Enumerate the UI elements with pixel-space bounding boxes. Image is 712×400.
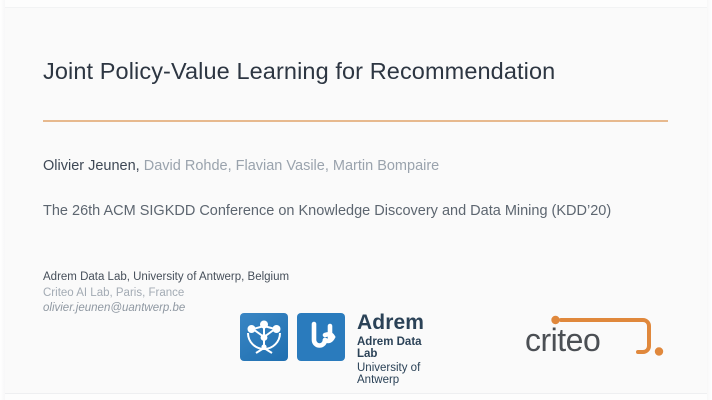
university-of-antwerp-icon [297, 313, 345, 361]
author-coauthors: David Rohde, Flavian Vasile, Martin Bomp… [140, 158, 440, 174]
conference-line: The 26th ACM SIGKDD Conference on Knowle… [43, 203, 611, 219]
criteo-logo: criteo [525, 313, 675, 365]
affiliation-secondary: Criteo AI Lab, Paris, France [43, 286, 289, 302]
slide-top-edge [0, 0, 712, 8]
slide-bottom-edge [0, 393, 712, 400]
page-title: Joint Policy-Value Learning for Recommen… [43, 58, 555, 85]
author-list: Olivier Jeunen, David Rohde, Flavian Vas… [43, 158, 439, 174]
adrem-lab-text: Adrem Data Lab [357, 337, 424, 360]
affiliation-primary: Adrem Data Lab, University of Antwerp, B… [43, 270, 289, 286]
title-divider [43, 120, 668, 122]
criteo-wordmark-text: criteo [525, 322, 600, 359]
slide-right-edge [707, 0, 712, 400]
affiliation-block: Adrem Data Lab, University of Antwerp, B… [43, 270, 289, 317]
slide-left-edge [0, 0, 5, 400]
adrem-brand-text: Adrem [357, 312, 424, 333]
adrem-network-icon [240, 313, 288, 361]
author-lead: Olivier Jeunen, [43, 158, 140, 174]
adrem-wordmark: Adrem Adrem Data Lab University of Antwe… [357, 312, 424, 386]
adrem-university-text: University of Antwerp [357, 363, 424, 386]
presentation-title-slide: Joint Policy-Value Learning for Recommen… [0, 0, 712, 400]
